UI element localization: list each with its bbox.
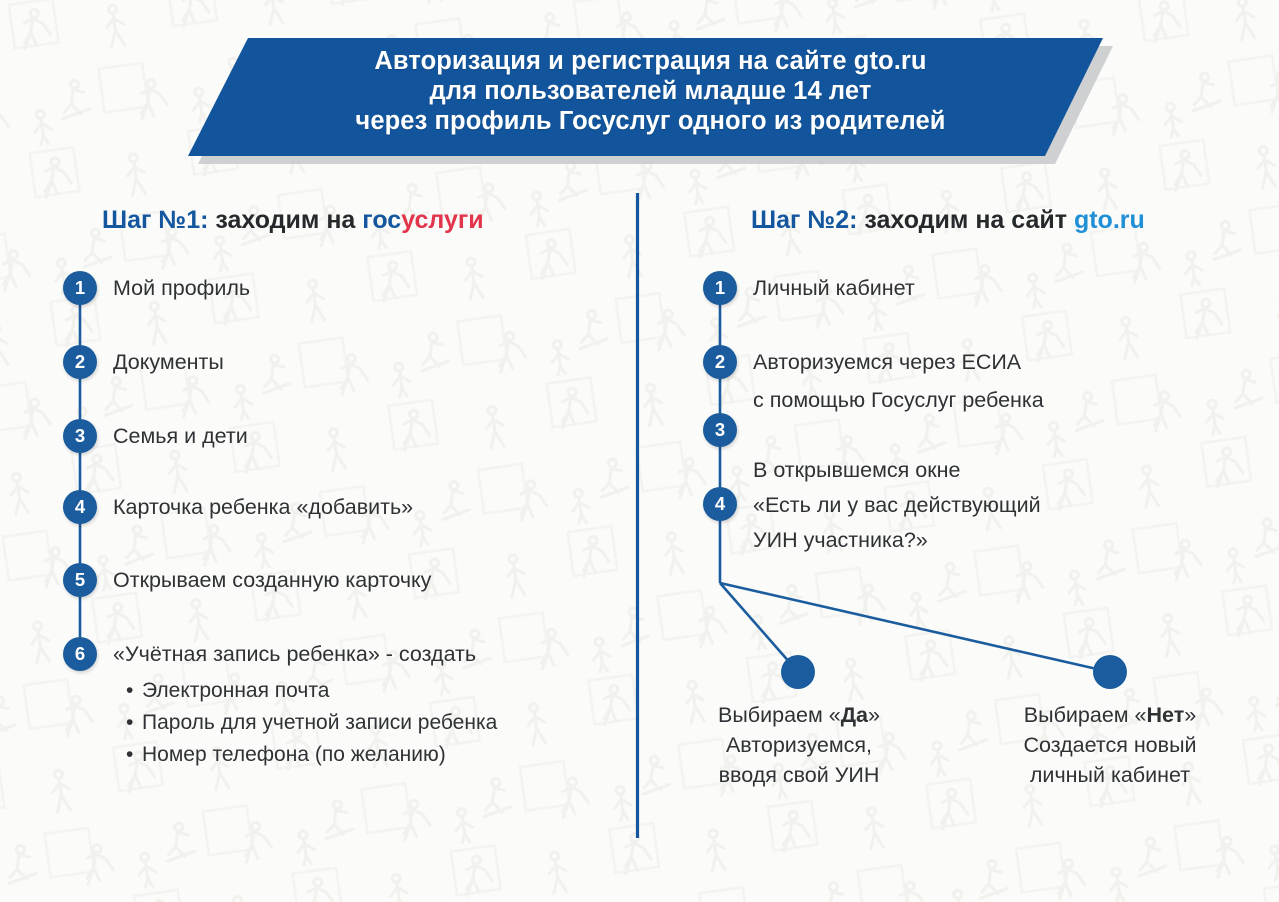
branch-yes-suffix: » bbox=[868, 703, 880, 727]
left-title-action: заходим на bbox=[208, 206, 362, 234]
left-step-6-sublist: •Электронная почта •Пароль для учетной з… bbox=[126, 675, 497, 771]
branch-no-suffix: » bbox=[1184, 703, 1196, 727]
right-step-4-number[interactable]: 4 bbox=[703, 487, 737, 521]
right-step-2-line2: с помощью Госуслуг ребенка bbox=[753, 385, 1044, 415]
right-title-action: заходим на сайт bbox=[857, 206, 1073, 234]
branch-line-no bbox=[720, 583, 1110, 672]
sub-item-password-label: Пароль для учетной записи ребенка bbox=[142, 711, 497, 734]
branch-dot-yes bbox=[781, 655, 815, 689]
branch-yes-line2: Авторизуемся, bbox=[658, 730, 940, 760]
sub-item-email: •Электронная почта bbox=[126, 675, 497, 707]
right-step-2-line1: Авторизуемся через ЕСИА bbox=[753, 347, 1021, 377]
branch-no-line2: Создается новый bbox=[969, 730, 1251, 760]
left-step-1-number[interactable]: 1 bbox=[63, 271, 97, 305]
right-step-3-number[interactable]: 3 bbox=[703, 413, 737, 447]
left-step-5-text: Открываем созданную карточку bbox=[113, 565, 431, 595]
right-step-4-line2: «Есть ли у вас действующий bbox=[753, 490, 1041, 520]
right-step-1-text: Личный кабинет bbox=[753, 273, 915, 303]
banner-line-3: через профиль Госуслуг одного из родител… bbox=[248, 106, 1053, 136]
bullet-icon: • bbox=[126, 739, 142, 771]
right-step-4-line3: УИН участника?» bbox=[753, 525, 928, 555]
left-title-brand-uslugi: услуги bbox=[401, 206, 483, 234]
branch-line-yes bbox=[720, 583, 798, 672]
left-step-3-text: Семья и дети bbox=[113, 421, 248, 451]
branch-yes-prefix: Выбираем « bbox=[718, 703, 841, 727]
right-title-step: Шаг №2: bbox=[751, 206, 857, 234]
banner-line-2: для пользователей младше 14 лет bbox=[248, 76, 1053, 106]
branch-caption-yes: Выбираем «Да» Авторизуемся, вводя свой У… bbox=[658, 700, 940, 790]
sub-item-phone-label: Номер телефона (по желанию) bbox=[142, 743, 446, 766]
left-title-step: Шаг №1: bbox=[102, 206, 208, 234]
left-step-6-text: «Учётная запись ребенка» - создать bbox=[113, 639, 476, 669]
sub-item-email-label: Электронная почта bbox=[142, 679, 329, 702]
right-step-1-number[interactable]: 1 bbox=[703, 271, 737, 305]
branch-yes-answer: Да bbox=[841, 703, 868, 727]
left-step-2-number[interactable]: 2 bbox=[63, 345, 97, 379]
branch-yes-line1: Выбираем «Да» bbox=[658, 700, 940, 730]
branch-dot-no bbox=[1093, 655, 1127, 689]
banner-title: Авторизация и регистрация на сайте gto.r… bbox=[248, 46, 1053, 136]
left-column-title: Шаг №1: заходим на госуслуги bbox=[102, 206, 484, 235]
bullet-icon: • bbox=[126, 707, 142, 739]
sub-item-phone: •Номер телефона (по желанию) bbox=[126, 739, 497, 771]
branch-caption-no: Выбираем «Нет» Создается новый личный ка… bbox=[969, 700, 1251, 790]
branch-yes-line3: вводя свой УИН bbox=[658, 760, 940, 790]
left-step-4-number[interactable]: 4 bbox=[63, 490, 97, 524]
branch-no-answer: Нет bbox=[1147, 703, 1185, 727]
header-banner: Авторизация и регистрация на сайте gto.r… bbox=[0, 0, 1279, 180]
left-step-1-text: Мой профиль bbox=[113, 273, 250, 303]
right-step-2-number[interactable]: 2 bbox=[703, 345, 737, 379]
branch-no-line1: Выбираем «Нет» bbox=[969, 700, 1251, 730]
left-step-2-text: Документы bbox=[113, 347, 224, 377]
left-title-brand-gos: гос bbox=[362, 206, 401, 234]
left-step-5-number[interactable]: 5 bbox=[63, 563, 97, 597]
left-step-6-number[interactable]: 6 bbox=[63, 637, 97, 671]
branch-no-prefix: Выбираем « bbox=[1024, 703, 1147, 727]
bullet-icon: • bbox=[126, 675, 142, 707]
banner-line-1: Авторизация и регистрация на сайте gto.r… bbox=[248, 46, 1053, 76]
sub-item-password: •Пароль для учетной записи ребенка bbox=[126, 707, 497, 739]
left-step-3-number[interactable]: 3 bbox=[63, 419, 97, 453]
right-title-site: gto.ru bbox=[1074, 206, 1145, 234]
right-step-4-line1: В открывшемся окне bbox=[753, 455, 960, 485]
right-column-title: Шаг №2: заходим на сайт gto.ru bbox=[751, 206, 1145, 235]
left-step-4-text: Карточка ребенка «добавить» bbox=[113, 492, 413, 522]
branch-no-line3: личный кабинет bbox=[969, 760, 1251, 790]
